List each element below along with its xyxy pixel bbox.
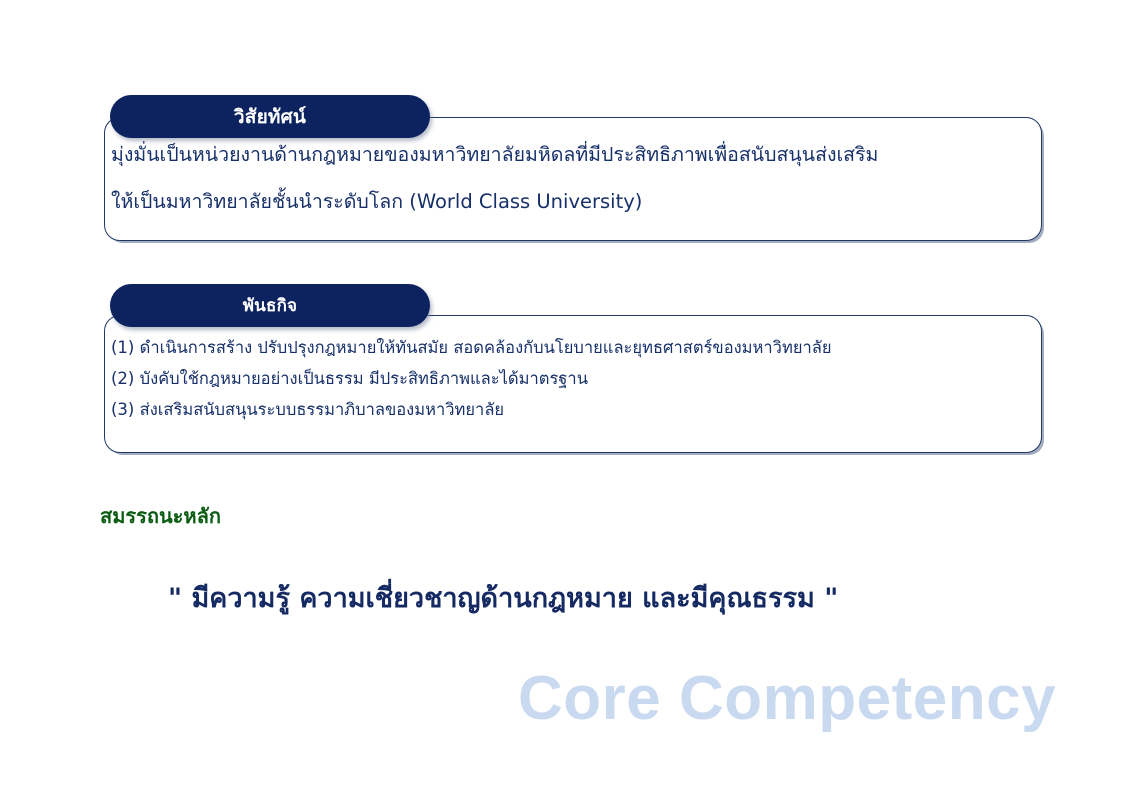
core-competency-watermark: Core Competency bbox=[518, 663, 1056, 734]
mission-tab-label: พันธกิจ bbox=[243, 292, 297, 319]
vision-panel-body: มุ่งมั่นเป็นหน่วยงานด้านกฎหมายของมหาวิทย… bbox=[111, 131, 1027, 225]
mission-item-2: (2) บังคับใช้กฎหมายอย่างเป็นธรรม มีประสิ… bbox=[111, 363, 1027, 394]
core-competency-quote: " มีความรู้ ความเชี่ยวชาญด้านกฎหมาย และม… bbox=[168, 576, 838, 619]
mission-item-3: (3) ส่งเสริมสนับสนุนระบบธรรมาภิบาลของมหา… bbox=[111, 394, 1027, 425]
mission-tab: พันธกิจ bbox=[110, 284, 430, 327]
vision-tab-label: วิสัยทัศน์ bbox=[234, 102, 306, 132]
vision-line-1: มุ่งมั่นเป็นหน่วยงานด้านกฎหมายของมหาวิทย… bbox=[111, 131, 1027, 178]
vision-tab: วิสัยทัศน์ bbox=[110, 95, 430, 138]
mission-item-1: (1) ดำเนินการสร้าง ปรับปรุงกฎหมายให้ทันส… bbox=[111, 332, 1027, 363]
vision-line-2: ให้เป็นมหาวิทยาลัยชั้นนำระดับโลก (World … bbox=[111, 178, 1027, 225]
mission-panel-body: (1) ดำเนินการสร้าง ปรับปรุงกฎหมายให้ทันส… bbox=[111, 332, 1027, 425]
core-competency-heading: สมรรถนะหลัก bbox=[100, 500, 221, 532]
slide-canvas: มุ่งมั่นเป็นหน่วยงานด้านกฎหมายของมหาวิทย… bbox=[0, 0, 1123, 794]
mission-panel: (1) ดำเนินการสร้าง ปรับปรุงกฎหมายให้ทันส… bbox=[104, 315, 1042, 453]
